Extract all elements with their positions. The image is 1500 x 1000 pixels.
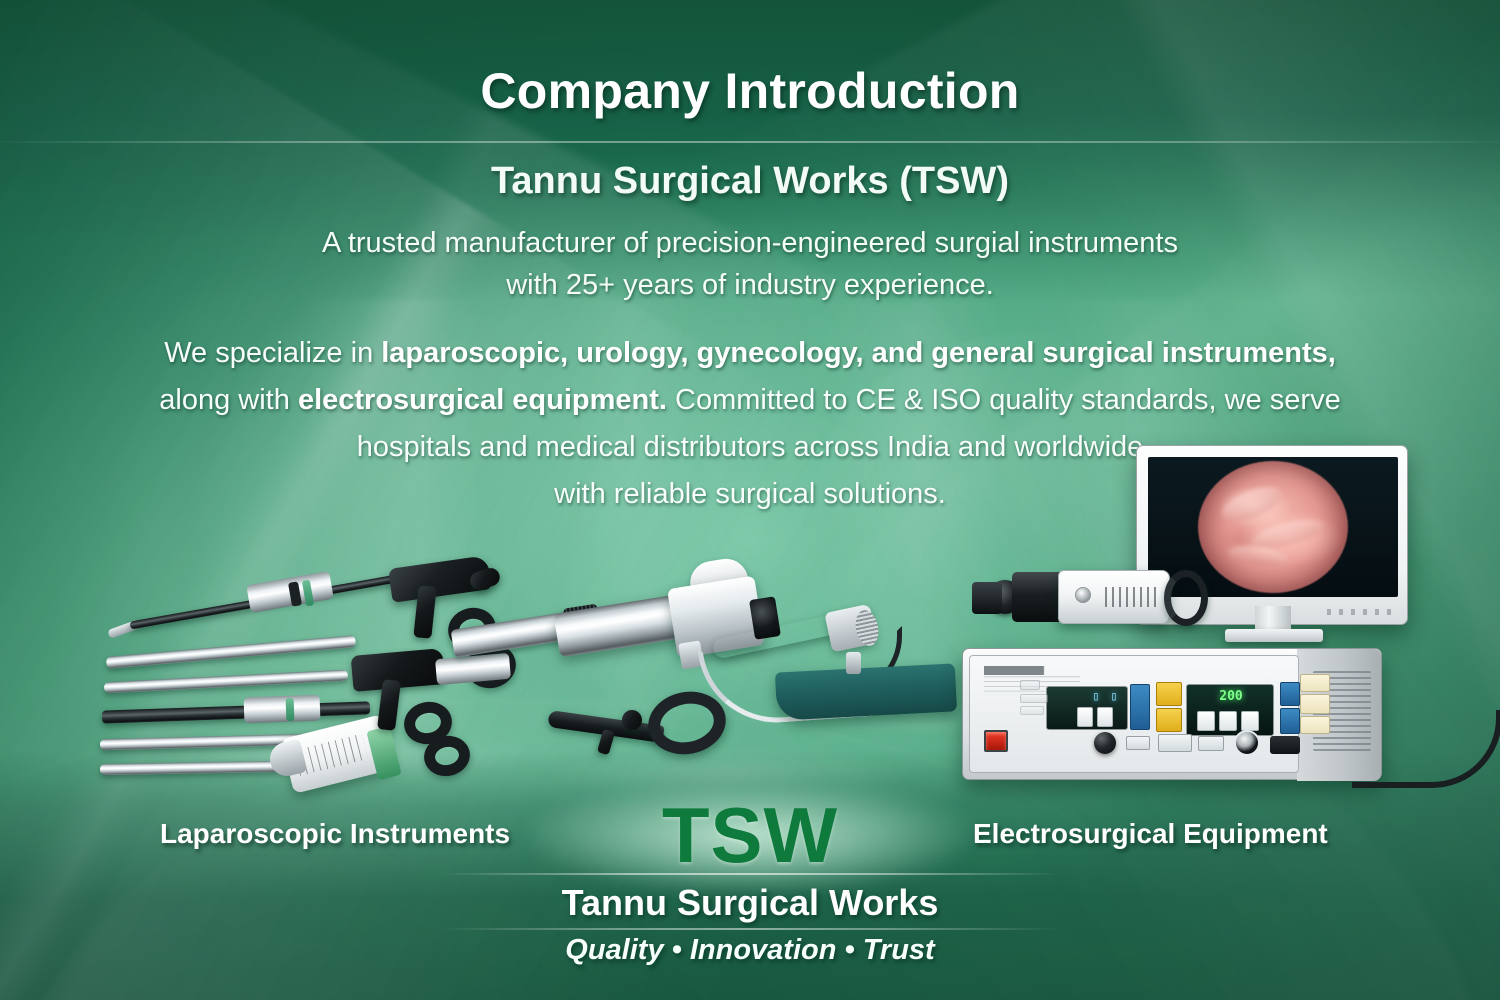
generator-button-b[interactable] xyxy=(1158,734,1192,752)
generator-mode-icon-b: ▯ xyxy=(1105,689,1123,703)
camera-coupler xyxy=(1012,572,1064,622)
intro-lead-line-1: A trusted manufacturer of precision-engi… xyxy=(0,222,1500,264)
generator-cream-pad-1[interactable] xyxy=(1300,674,1330,692)
generator-cream-pad-3[interactable] xyxy=(1300,716,1330,734)
generator-button-a[interactable] xyxy=(1126,736,1150,750)
instrument-case-post xyxy=(846,652,861,674)
generator-indicator-dark xyxy=(1270,736,1300,754)
logo-divider-top xyxy=(440,873,1060,875)
camera-button-icon[interactable] xyxy=(1075,587,1091,603)
camera-lens-hood xyxy=(972,582,1002,614)
generator-digit-l2 xyxy=(1097,707,1113,727)
generator-digit-r1 xyxy=(1197,711,1215,731)
monitor-control-buttons[interactable] xyxy=(1327,609,1393,615)
endoscopic-image xyxy=(1198,461,1348,593)
generator-blue-pad-r2[interactable] xyxy=(1280,708,1300,734)
grasper-trigger-1 xyxy=(413,585,436,639)
intro-lead-line-2: with 25+ years of industry experience. xyxy=(0,264,1500,306)
body-p2-text-b: Committed to CE & ISO quality standards,… xyxy=(667,384,1341,416)
valve-ring-green-2 xyxy=(286,698,295,721)
generator-rotary-knob[interactable] xyxy=(1094,732,1116,754)
monitor-stand-base xyxy=(1225,629,1323,642)
generator-cream-pad-2[interactable] xyxy=(1300,694,1330,714)
title-divider xyxy=(0,141,1500,143)
generator-digit-l1 xyxy=(1077,707,1093,727)
generator-yellow-pad-bottom[interactable] xyxy=(1156,708,1182,732)
trocar-cannula-2 xyxy=(104,670,348,694)
generator-label-line-c xyxy=(1020,706,1044,715)
camera-head xyxy=(1058,570,1170,624)
product-photo-zone: ▯ ▯ 200 xyxy=(0,430,1500,830)
body-paragraph-1: We specialize in laparoscopic, urology, … xyxy=(0,330,1500,377)
generator-yellow-pad-top[interactable] xyxy=(1156,682,1182,706)
logo-tagline: Quality • Innovation • Trust xyxy=(0,934,1500,967)
logo-monogram: TSW xyxy=(0,796,1500,874)
electrosurgical-generator: ▯ ▯ 200 xyxy=(962,648,1382,780)
company-heading: Tannu Surgical Works (TSW) xyxy=(0,160,1500,203)
logo-company-name: Tannu Surgical Works xyxy=(0,882,1500,924)
valve-collar-2 xyxy=(244,695,321,724)
body-p1-emphasis: laparoscopic, urology, gynecology, and g… xyxy=(381,337,1336,369)
generator-label-line-a xyxy=(1020,680,1040,690)
camera-brand-mark xyxy=(1105,587,1161,607)
body-p2-emphasis: electrosurgical equipment. xyxy=(298,384,667,416)
instrument-case-teal xyxy=(775,663,957,720)
generator-label-line-b xyxy=(1020,694,1048,703)
generator-blue-pad-left[interactable] xyxy=(1130,684,1150,730)
camera-cable-coil xyxy=(1164,570,1208,626)
generator-front-panel: ▯ ▯ 200 xyxy=(969,655,1299,773)
instrument-shaft-dark-2 xyxy=(102,701,370,723)
generator-display-right: 200 xyxy=(1186,684,1274,736)
generator-mode-icon-a: ▯ xyxy=(1087,689,1105,703)
generator-blue-pad-r1[interactable] xyxy=(1280,682,1300,706)
trocar-cannula-1 xyxy=(106,635,356,669)
body-paragraph-2: along with electrosurgical equipment. Co… xyxy=(0,377,1500,424)
generator-display-left: ▯ ▯ xyxy=(1046,686,1128,730)
generator-readout-power: 200 xyxy=(1195,689,1267,704)
generator-button-c[interactable] xyxy=(1198,736,1224,751)
generator-digit-r3 xyxy=(1241,711,1259,731)
logo-divider-bottom xyxy=(440,928,1060,930)
intro-lead: A trusted manufacturer of precision-engi… xyxy=(0,222,1500,306)
generator-power-switch[interactable] xyxy=(984,730,1008,752)
endoscopic-fold-1 xyxy=(1217,480,1286,528)
slide-canvas: Company Introduction Tannu Surgical Work… xyxy=(0,0,1500,1000)
body-p2-text-a: along with xyxy=(159,384,298,416)
generator-digit-r2 xyxy=(1219,711,1237,731)
generator-power-cord xyxy=(1352,710,1500,788)
page-title: Company Introduction xyxy=(0,62,1500,120)
generator-output-socket[interactable] xyxy=(1234,730,1260,756)
body-p1-text: We specialize in xyxy=(164,337,381,369)
